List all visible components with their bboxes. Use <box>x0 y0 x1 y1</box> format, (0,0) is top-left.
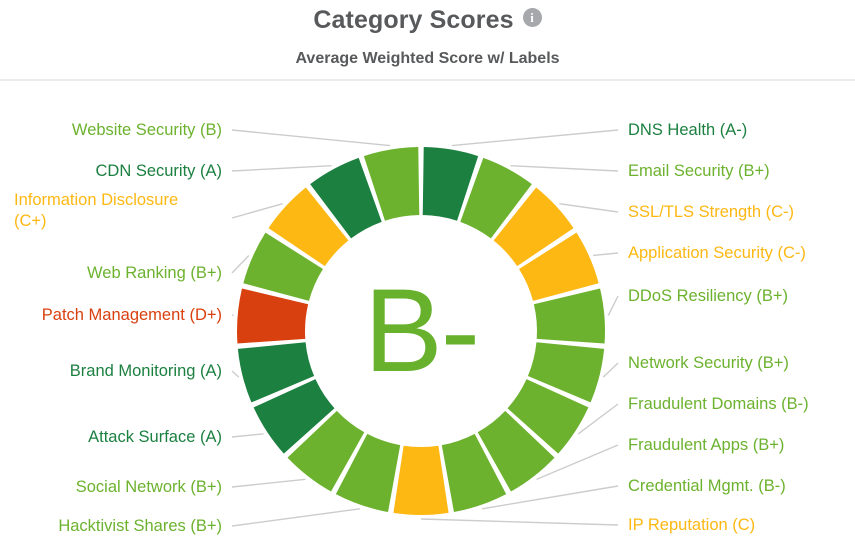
leader-line <box>232 509 360 526</box>
category-label[interactable]: IP Reputation (C) <box>628 515 755 536</box>
category-label[interactable]: Patch Management (D+) <box>42 305 222 326</box>
leader-line <box>232 479 306 487</box>
leader-line <box>452 130 618 146</box>
category-label[interactable]: Attack Surface (A) <box>88 427 222 448</box>
leader-line <box>232 371 239 377</box>
category-label[interactable]: Web Ranking (B+) <box>87 263 222 284</box>
title-row: Category Scoresi <box>0 6 855 35</box>
category-scores-panel: Category Scoresi Average Weighted Score … <box>0 0 855 553</box>
page-title: Category Scores <box>313 6 513 34</box>
leader-line <box>232 130 390 146</box>
leader-line <box>232 434 264 437</box>
donut-slice[interactable] <box>393 446 448 515</box>
leader-line <box>593 253 618 255</box>
category-label[interactable]: Credential Mgmt. (B-) <box>628 476 786 497</box>
category-label[interactable]: Network Security (B+) <box>628 353 789 374</box>
category-label[interactable]: Information Disclosure (C+) <box>14 190 214 232</box>
leader-line <box>421 519 618 525</box>
leader-line <box>603 363 618 377</box>
category-label[interactable]: DNS Health (A-) <box>628 120 747 141</box>
leader-line <box>232 204 283 218</box>
donut-slices-group[interactable] <box>237 147 605 515</box>
category-label[interactable]: DDoS Resiliency (B+) <box>628 286 788 307</box>
category-label[interactable]: Social Network (B+) <box>76 477 222 498</box>
category-label[interactable]: Email Security (B+) <box>628 161 770 182</box>
category-label[interactable]: Brand Monitoring (A) <box>70 361 222 382</box>
category-label[interactable]: Hacktivist Shares (B+) <box>58 516 222 537</box>
leader-line <box>232 166 332 171</box>
info-icon[interactable]: i <box>523 8 542 27</box>
leader-line <box>559 204 618 212</box>
donut-chart-area: B- DNS Health (A-)Email Security (B+)SSL… <box>0 81 855 553</box>
category-label[interactable]: CDN Security (A) <box>95 161 222 182</box>
category-label[interactable]: Website Security (B) <box>72 120 222 141</box>
chart-subtitle: Average Weighted Score w/ Labels <box>0 50 855 68</box>
category-label[interactable]: SSL/TLS Strength (C-) <box>628 202 794 223</box>
panel-header: Category Scoresi Average Weighted Score … <box>0 0 855 81</box>
leader-line <box>510 166 618 171</box>
leader-line <box>232 255 249 273</box>
category-label[interactable]: Application Security (C-) <box>628 243 806 264</box>
category-label[interactable]: Fraudulent Apps (B+) <box>628 435 784 456</box>
category-label[interactable]: Fraudulent Domains (B-) <box>628 394 809 415</box>
leader-line <box>608 296 618 315</box>
